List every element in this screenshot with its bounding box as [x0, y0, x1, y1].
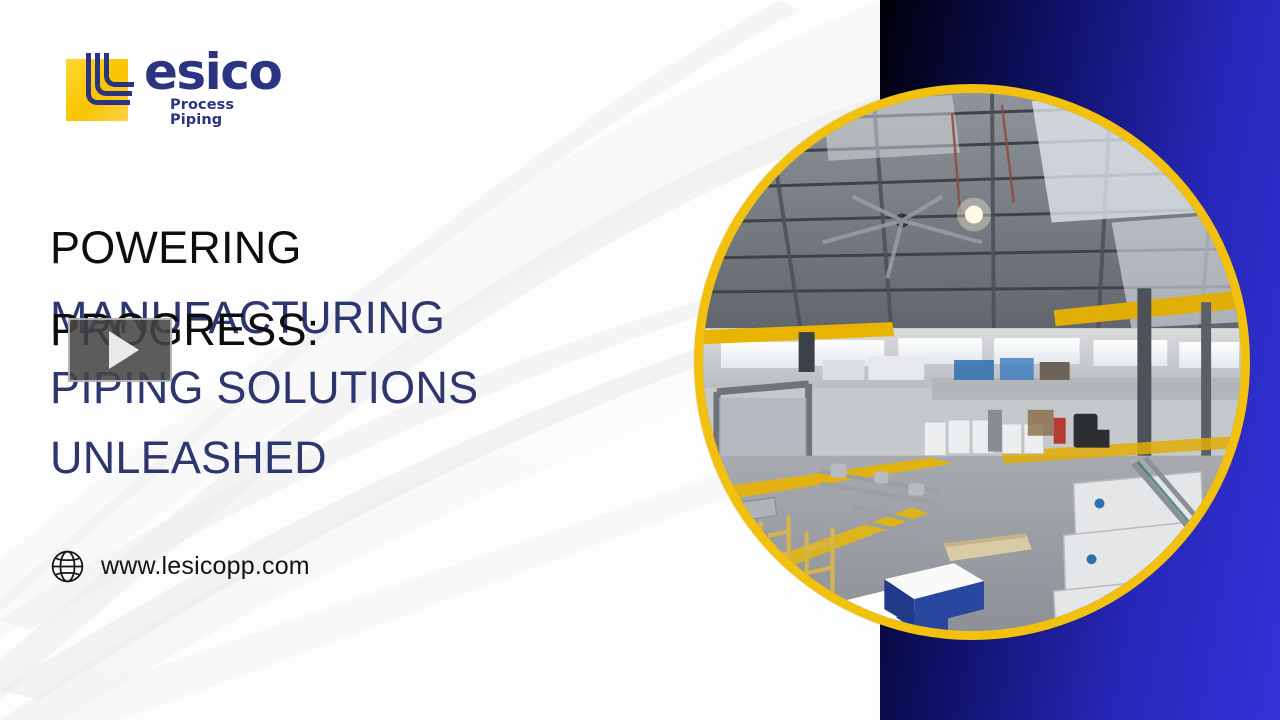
- logo-text: esico Process Piping: [144, 49, 281, 127]
- website-url[interactable]: www.lesicopp.com: [101, 552, 310, 581]
- company-logo: esico Process Piping: [56, 33, 270, 143]
- factory-photo: [703, 93, 1241, 631]
- headline-navy-line-3: UNLEASHED: [50, 435, 327, 480]
- factory-interior-illustration: [703, 93, 1241, 631]
- headline-black-line-1: POWERING: [50, 225, 302, 270]
- logo-wordmark: esico: [144, 49, 281, 95]
- logo-l-stroke-inner: [104, 53, 134, 87]
- play-triangle-icon: [109, 331, 139, 369]
- website-row[interactable]: www.lesicopp.com: [50, 549, 310, 584]
- globe-icon: [50, 549, 85, 584]
- lesico-mark-icon: [66, 51, 140, 125]
- logo-tagline: Process Piping: [170, 98, 281, 127]
- slide-root: esico Process Piping MANUFACTURING PIPIN…: [0, 0, 1280, 720]
- factory-photo-circle: [694, 84, 1250, 640]
- video-play-button[interactable]: [68, 318, 172, 382]
